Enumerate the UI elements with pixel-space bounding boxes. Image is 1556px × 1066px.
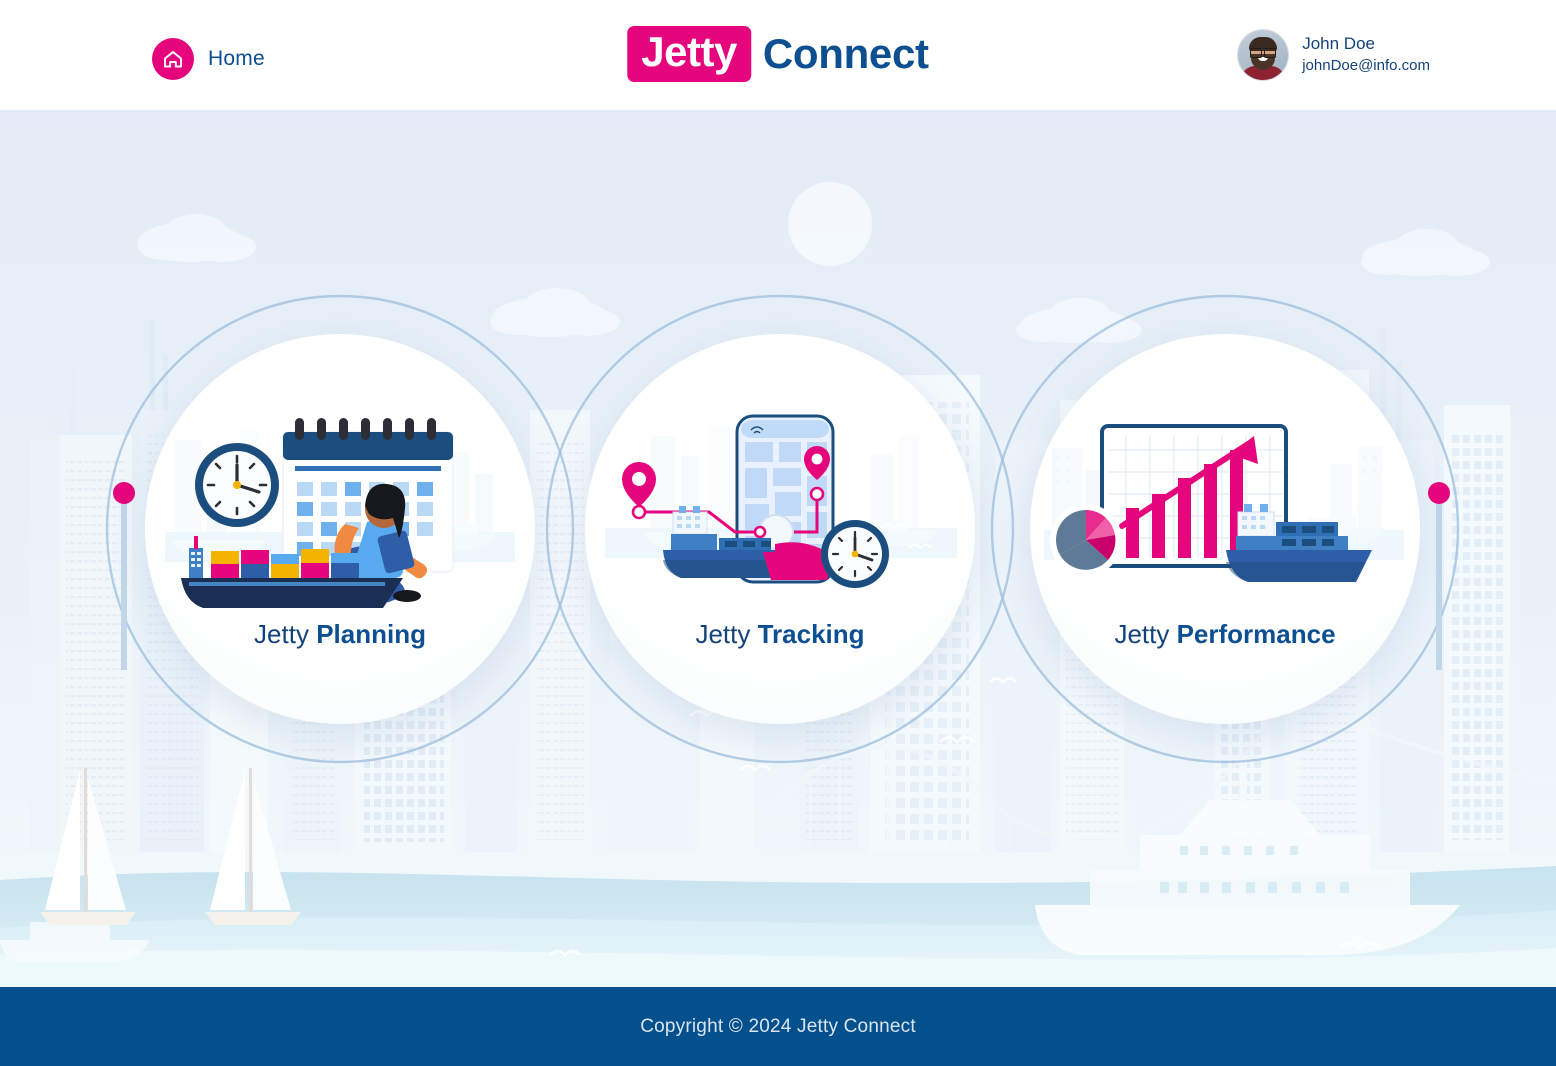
profile-email: johnDoe@info.com [1302,56,1430,76]
home-nav-button[interactable]: Home [152,38,265,80]
app-header: Home Jetty Connect John Doe johnDoe@info… [0,0,1556,110]
card-title-light: Jetty [1114,619,1169,649]
tracking-illustration [585,402,975,622]
card-jetty-performance[interactable]: Jetty Performance [1030,334,1420,724]
profile-name: John Doe [1302,33,1430,56]
card-title-planning: Jetty Planning [145,619,535,650]
card-title-bold: Performance [1177,619,1336,649]
app-logo[interactable]: Jetty Connect [627,26,928,82]
app-footer: Copyright © 2024 Jetty Connect [0,987,1556,1066]
card-title-light: Jetty [695,619,750,649]
card-jetty-tracking[interactable]: Jetty Tracking [585,334,975,724]
home-label: Home [208,47,265,71]
card-title-bold: Tracking [758,619,865,649]
performance-illustration [1030,402,1420,622]
card-jetty-planning[interactable]: Jetty Planning [145,334,535,724]
connector-dot-right [1428,482,1450,504]
card-title-performance: Jetty Performance [1030,619,1420,650]
connector-dot-left [113,482,135,504]
home-icon [152,38,194,80]
feature-cards: Jetty Planning [0,110,1556,987]
planning-illustration [145,402,535,622]
logo-connect-text: Connect [751,33,929,75]
card-title-tracking: Jetty Tracking [585,619,975,650]
copyright-text: Copyright © 2024 Jetty Connect [640,1016,916,1038]
avatar [1238,30,1288,80]
logo-jetty-text: Jetty [627,26,751,82]
card-title-light: Jetty [254,619,309,649]
card-title-bold: Planning [316,619,426,649]
user-profile[interactable]: John Doe johnDoe@info.com [1238,30,1430,80]
